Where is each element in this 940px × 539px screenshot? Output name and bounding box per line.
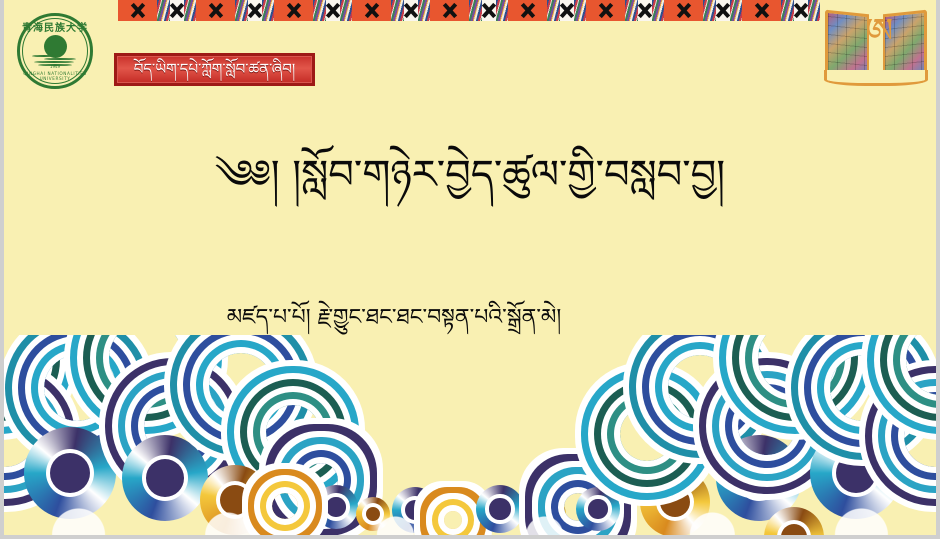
cross-icon [209,3,224,18]
cross-icon [248,3,263,18]
cross-icon [482,3,497,18]
seal-english-name: QINGHAI NATIONALITIES UNIVERSITY [13,71,97,81]
cross-icon [755,3,770,18]
cross-icon [599,3,614,18]
cross-icon [404,3,419,18]
open-book-logo: ཨ [822,4,930,92]
cross-icon [365,3,380,18]
presentation-slide: 青海民族大学 1949 QINGHAI NATIONALITIES UNIVER… [0,0,940,539]
cross-icon [443,3,458,18]
cloud-crest [4,475,936,535]
seal-year: 1949 [13,64,97,69]
course-label-banner: བོད་ཡིག་དཔེ་ཀློག་སློབ་ཚན་ཞིབ། [114,53,315,86]
qinghai-nationalities-university-seal: 青海民族大学 1949 QINGHAI NATIONALITIES UNIVER… [13,9,97,93]
cross-icon [521,3,536,18]
cross-icon [638,3,653,18]
cross-icon [170,3,185,18]
book-page-left [825,10,870,79]
seal-chinese-name: 青海民族大学 [13,19,97,34]
cross-icon [677,3,692,18]
cross-icon [287,3,302,18]
slide-title: ༄༅། །སློབ་གཉེར་བྱེད་ཚུལ་གྱི་བསླབ་བྱ། [4,148,936,202]
tibetan-glyph-icon: ཨ [866,14,886,48]
cross-icon [560,3,575,18]
slide-author: མཛད་པ་པོ། རྗེ་གྱུང་ཐང་ཐང་བསྟན་པའི་སྒྲོན་… [4,303,936,334]
slide-canvas: 青海民族大学 1949 QINGHAI NATIONALITIES UNIVER… [4,0,936,535]
cross-icon [326,3,341,18]
cross-icon [794,3,809,18]
cross-icon [131,3,146,18]
course-label-text: བོད་ཡིག་དཔེ་ཀློག་སློབ་ཚན་ཞིབ། [134,62,295,77]
tibetan-woven-border [118,0,820,21]
tibetan-cloud-wave-border [4,335,936,535]
cross-icon [716,3,731,18]
